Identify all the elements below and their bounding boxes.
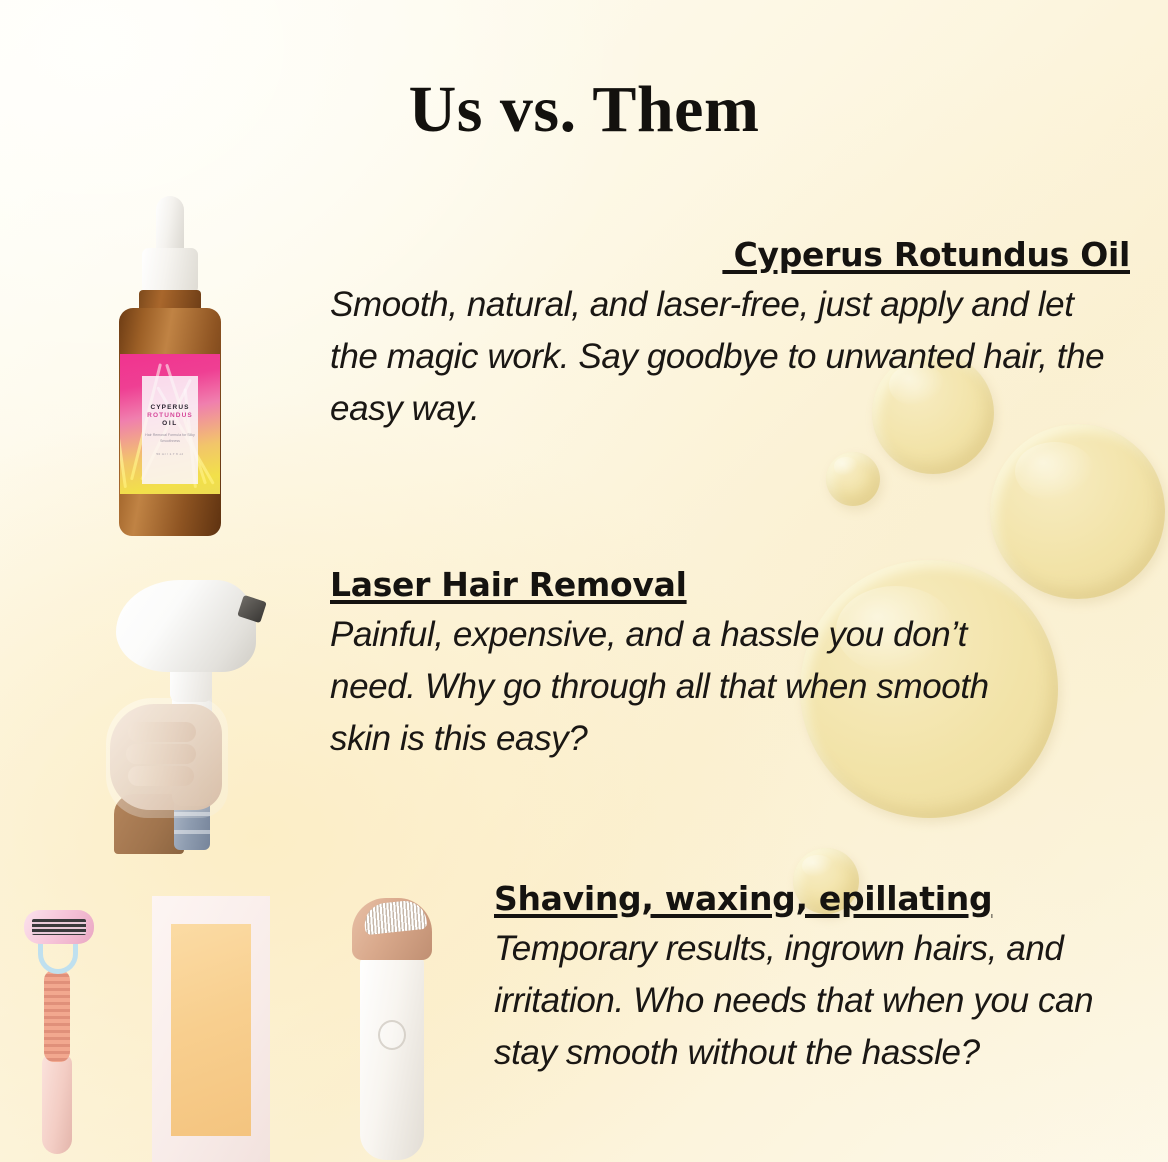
bottle-label: CYPERUS ROTUNDUS OIL Hair Removal Formul… (120, 354, 220, 494)
bottle-brand-line-2: ROTUNDUS (147, 412, 193, 419)
section-heading: Laser Hair Removal (330, 566, 990, 605)
razor-yoke (38, 940, 78, 974)
latex-glove (106, 698, 228, 818)
dropper-cap-icon (142, 248, 198, 294)
section-body: Smooth, natural, and laser-free, just ap… (330, 279, 1130, 435)
oil-droplet-icon (990, 424, 1165, 599)
laser-handpiece-head (116, 580, 256, 672)
bottle-brand-line-3: OIL (162, 420, 178, 427)
section-cyperus-rotundus-oil: Cyperus Rotundus Oil Smooth, natural, an… (330, 236, 1130, 435)
section-heading: Shaving, waxing, epillating (494, 880, 1114, 919)
epilator-power-button[interactable] (378, 1020, 406, 1050)
poster-canvas: Us vs. Them CYPERUS ROTUNDUS OIL Hair Re… (0, 0, 1168, 1162)
section-laser-hair-removal: Laser Hair Removal Painful, expensive, a… (330, 566, 990, 765)
epilator-body (360, 950, 424, 1160)
section-shaving-waxing-epillating: Shaving, waxing, epillating Temporary re… (494, 880, 1114, 1079)
product-image-laser-device (100, 578, 280, 853)
bottle-volume: 50 ml / 1.7 fl oz (156, 452, 183, 456)
page-title: Us vs. Them (0, 72, 1168, 148)
wax-strip-wax-layer (171, 924, 251, 1136)
bottle-subtext: Hair Removal Formula for Silky Smoothnes… (142, 433, 198, 444)
section-body: Temporary results, ingrown hairs, and ir… (494, 923, 1114, 1079)
razor-grip (44, 970, 70, 1062)
oil-droplet-icon (826, 452, 880, 506)
product-image-razor (16, 910, 100, 1158)
bottle-label-text-panel: CYPERUS ROTUNDUS OIL Hair Removal Formul… (142, 376, 198, 484)
section-heading: Cyperus Rotundus Oil (330, 236, 1130, 275)
product-image-wax-strip (152, 896, 270, 1162)
section-body: Painful, expensive, and a hassle you don… (330, 609, 990, 765)
razor-blades-icon (32, 919, 86, 935)
product-image-oil-bottle: CYPERUS ROTUNDUS OIL Hair Removal Formul… (110, 196, 230, 536)
product-image-epilator (346, 898, 438, 1162)
razor-handle (42, 1054, 72, 1154)
bottle-brand-line-1: CYPERUS (150, 404, 189, 411)
